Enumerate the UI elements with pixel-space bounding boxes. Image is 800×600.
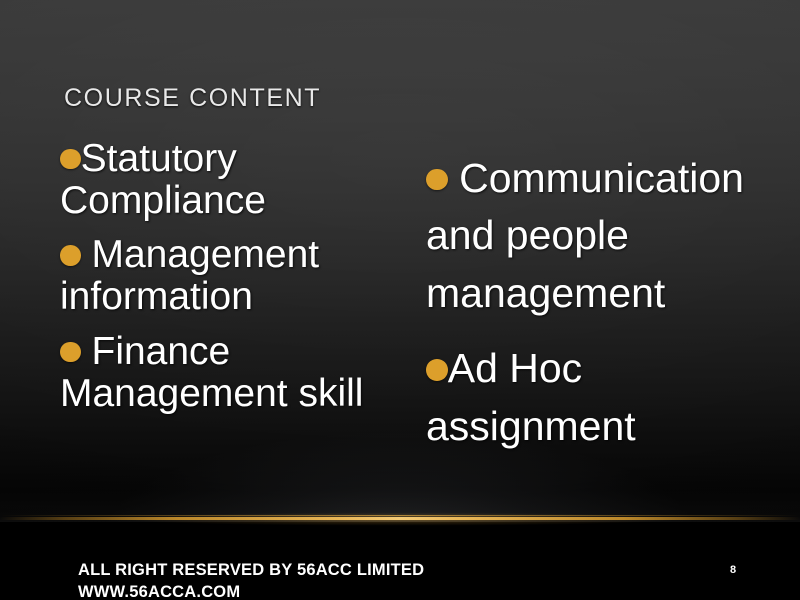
list-item: Communication and people management [426, 150, 786, 322]
list-item-label: Ad Hoc assignment [426, 345, 636, 448]
list-item: Finance Management skill [60, 331, 430, 414]
list-item: Management information [60, 234, 430, 317]
page-title: COURSE CONTENT [64, 84, 321, 113]
bullet-column-right: Communication and people management Ad H… [426, 150, 786, 473]
list-item-label: Management information [60, 233, 330, 318]
bullet-dot-icon [60, 245, 81, 266]
bullet-dot-icon [60, 342, 81, 363]
list-item-label: Finance Management skill [60, 330, 363, 415]
bullet-column-left: Statutory Compliance Management informat… [60, 138, 430, 427]
bullet-dot-icon [60, 149, 81, 170]
copyright-footer: ALL RIGHT RESERVED BY 56ACC LIMITED WWW.… [78, 560, 424, 600]
list-item: Statutory Compliance [60, 138, 430, 221]
list-item-label: Communication and people management [426, 155, 755, 316]
list-item-label: Statutory Compliance [60, 137, 266, 222]
bullet-dot-icon [426, 359, 448, 381]
slide-canvas: COURSE CONTENT Statutory Compliance Mana… [0, 0, 800, 600]
list-item: Ad Hoc assignment [426, 340, 786, 455]
page-number: 8 [730, 564, 736, 576]
bullet-dot-icon [426, 169, 448, 191]
